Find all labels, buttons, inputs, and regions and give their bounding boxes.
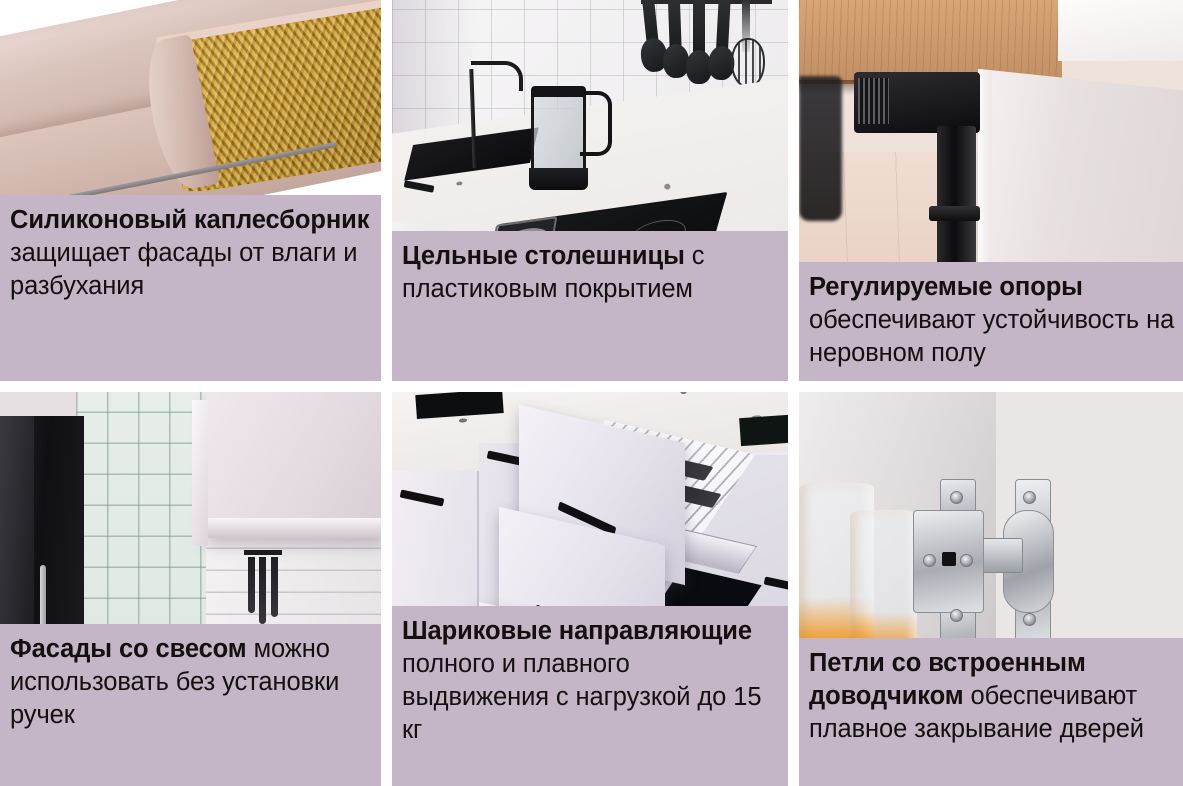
caption-bold-lead: Силиконовый каплесборник	[10, 206, 369, 234]
caption-bold-lead: Цельные столешницы	[402, 242, 685, 270]
feature-card-silicone-drip-catcher[interactable]: Силиконовый каплесборник защищает фасады…	[0, 0, 381, 381]
caption-adjustable-legs: Регулируемые опоры обеспечивают устойчив…	[799, 262, 1183, 381]
caption-soft-close-hinges: Петли со встроенным доводчиком обеспечив…	[799, 638, 1183, 786]
feature-card-ball-bearing-slides[interactable]: Шариковые направляющие полного и плавног…	[392, 392, 788, 786]
feature-card-overhang-fronts[interactable]: Фасады со свесом можно использовать без …	[0, 392, 381, 786]
caption-solid-worktops: Цельные столешницы с пластиковым покрыти…	[392, 231, 788, 381]
feature-card-soft-close-hinges[interactable]: Петли со встроенным доводчиком обеспечив…	[799, 392, 1183, 786]
caption-rest: защищает фасады от влаги и разбухания	[10, 239, 357, 300]
feature-grid: Силиконовый каплесборник защищает фасады…	[0, 0, 1183, 786]
caption-rest: полного и плавного выдвижения с нагрузко…	[402, 650, 761, 744]
caption-ball-bearing-slides: Шариковые направляющие полного и плавног…	[392, 606, 788, 786]
caption-bold-lead: Фасады со свесом	[10, 635, 247, 663]
caption-silicone-drip-catcher: Силиконовый каплесборник защищает фасады…	[0, 195, 381, 381]
feature-card-adjustable-legs[interactable]: Регулируемые опоры обеспечивают устойчив…	[799, 0, 1183, 381]
feature-card-solid-worktops[interactable]: Цельные столешницы с пластиковым покрыти…	[392, 0, 788, 381]
caption-bold-lead: Регулируемые опоры	[809, 273, 1083, 301]
caption-overhang-fronts: Фасады со свесом можно использовать без …	[0, 624, 381, 786]
caption-rest: обеспечивают устойчивость на неровном по…	[809, 306, 1174, 367]
caption-bold-lead: Шариковые направляющие	[402, 617, 752, 645]
